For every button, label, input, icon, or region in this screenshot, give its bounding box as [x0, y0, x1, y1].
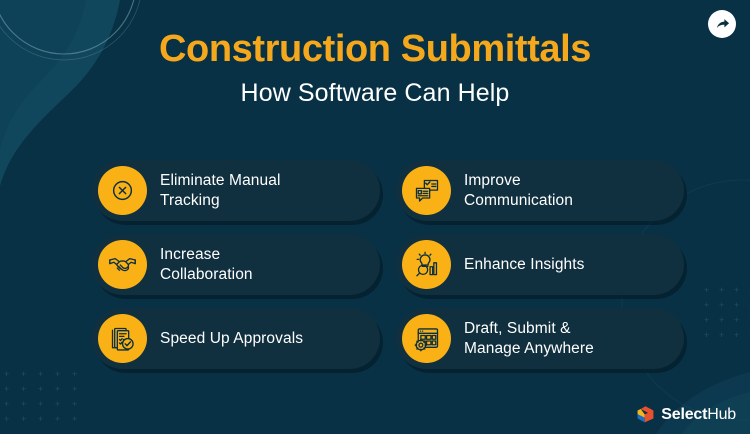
benefit-card-grid: Eliminate Manual Tracking [92, 160, 684, 369]
benefit-card-line2: Collaboration [160, 265, 253, 284]
benefit-card-eliminate-manual-tracking[interactable]: Eliminate Manual Tracking [92, 160, 380, 221]
benefit-card-draft-submit-manage-anywhere[interactable]: Draft, Submit & Manage Anywhere [396, 308, 684, 369]
selecthub-cube-icon [636, 405, 655, 424]
benefit-card-enhance-insights[interactable]: Enhance Insights [396, 234, 684, 295]
benefit-card-line1: Improve [464, 172, 521, 189]
benefit-card-speed-up-approvals[interactable]: Speed Up Approvals [92, 308, 380, 369]
benefit-card-increase-collaboration[interactable]: Increase Collaboration [92, 234, 380, 295]
dashboard-gear-icon [402, 314, 451, 363]
selecthub-logo[interactable]: SelectHub [636, 405, 736, 424]
page-subtitle: How Software Can Help [0, 80, 750, 108]
benefit-card-line1: Draft, Submit & [464, 320, 571, 337]
logo-name-bold: Select [661, 406, 707, 423]
benefit-card-label: Improve Communication [464, 171, 583, 210]
benefit-card-line2: Tracking [160, 191, 281, 210]
benefit-card-label: Enhance Insights [464, 255, 595, 274]
selecthub-logo-text: SelectHub [661, 406, 736, 424]
circle-x-icon [98, 166, 147, 215]
handshake-icon [98, 240, 147, 289]
infographic-canvas: +++++ +++++ +++++ +++++ ++++ ++++ ++++ +… [0, 0, 750, 434]
chat-bubbles-icon [402, 166, 451, 215]
benefit-card-line2: Manage Anywhere [464, 339, 594, 358]
page-title: Construction Submittals [0, 30, 750, 70]
benefit-card-line2: Communication [464, 191, 573, 210]
benefit-card-line1: Speed Up Approvals [160, 330, 303, 347]
benefit-card-line1: Eliminate Manual [160, 172, 281, 189]
logo-name-light: Hub [707, 406, 736, 423]
benefit-card-line1: Enhance Insights [464, 256, 585, 273]
document-check-icon [98, 314, 147, 363]
benefit-card-label: Speed Up Approvals [160, 329, 313, 348]
benefit-card-label: Increase Collaboration [160, 245, 263, 284]
header: Construction Submittals How Software Can… [0, 30, 750, 107]
benefit-card-label: Draft, Submit & Manage Anywhere [464, 319, 604, 358]
benefit-card-label: Eliminate Manual Tracking [160, 171, 291, 210]
benefit-card-line1: Increase [160, 246, 220, 263]
insights-lightbulb-chart-icon [402, 240, 451, 289]
benefit-card-improve-communication[interactable]: Improve Communication [396, 160, 684, 221]
